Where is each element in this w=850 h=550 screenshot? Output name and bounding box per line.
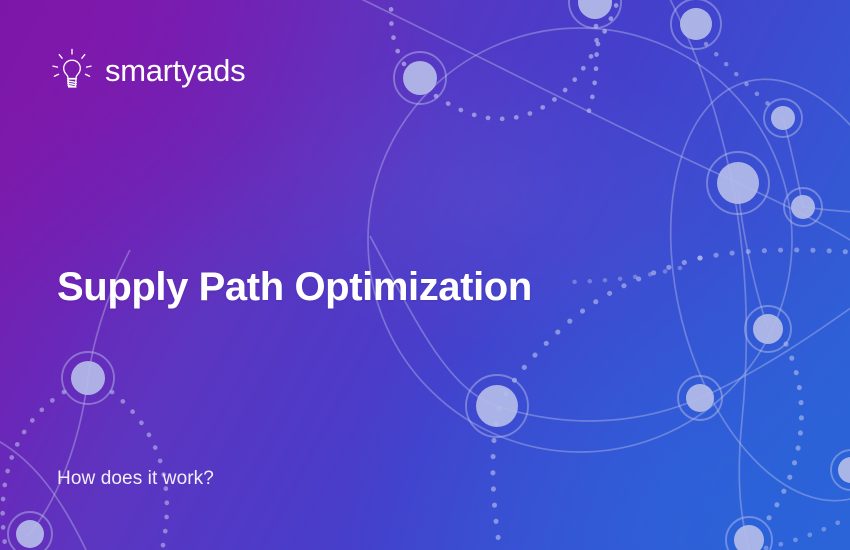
slide-canvas: smartyads Supply Path Optimization How d… (0, 0, 850, 550)
brand-logo[interactable]: smartyads (50, 48, 245, 94)
page-title: Supply Path Optimization (57, 264, 532, 310)
brand-name: smartyads (105, 55, 245, 88)
lightbulb-icon (50, 48, 94, 94)
page-subtitle: How does it work? (57, 468, 214, 490)
